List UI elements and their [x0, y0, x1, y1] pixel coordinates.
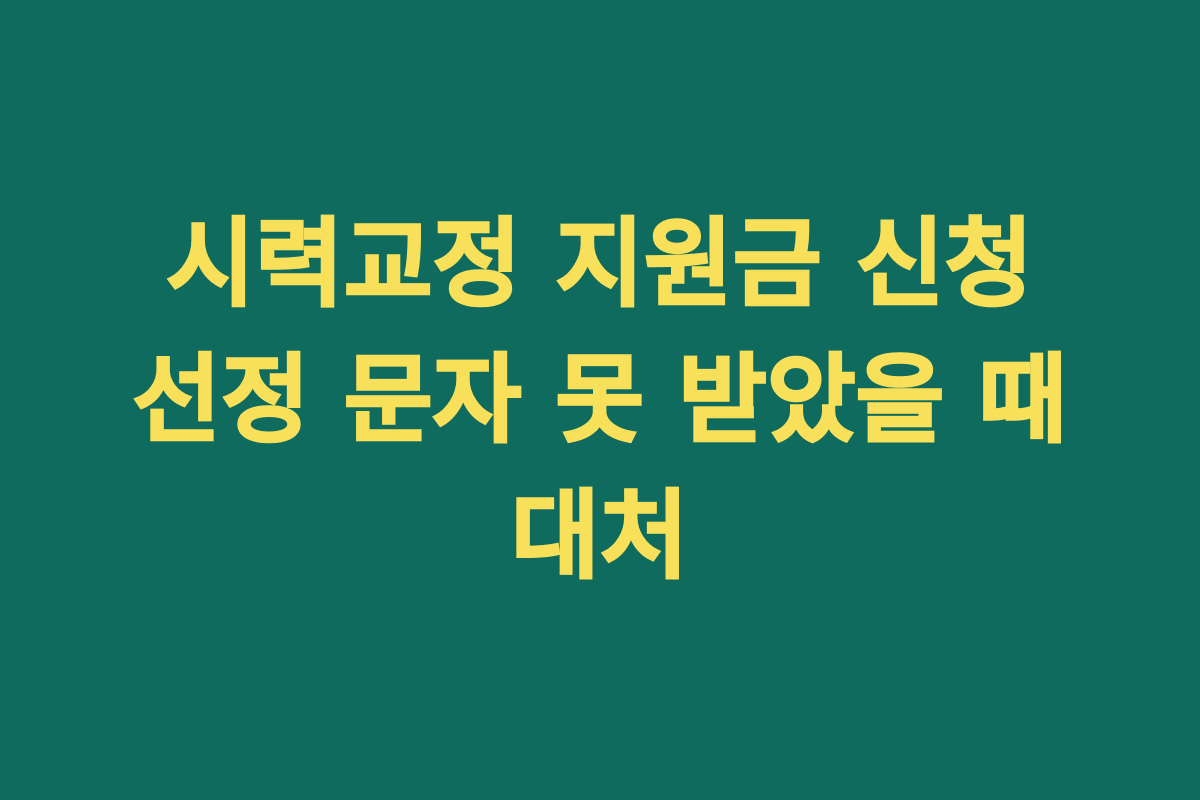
thumbnail-canvas: 시력교정 지원금 신청 선정 문자 못 받았을 때 대처 — [0, 0, 1200, 800]
headline-block: 시력교정 지원금 신청 선정 문자 못 받았을 때 대처 — [95, 196, 1105, 605]
page-title: 시력교정 지원금 신청 선정 문자 못 받았을 때 대처 — [95, 196, 1105, 605]
